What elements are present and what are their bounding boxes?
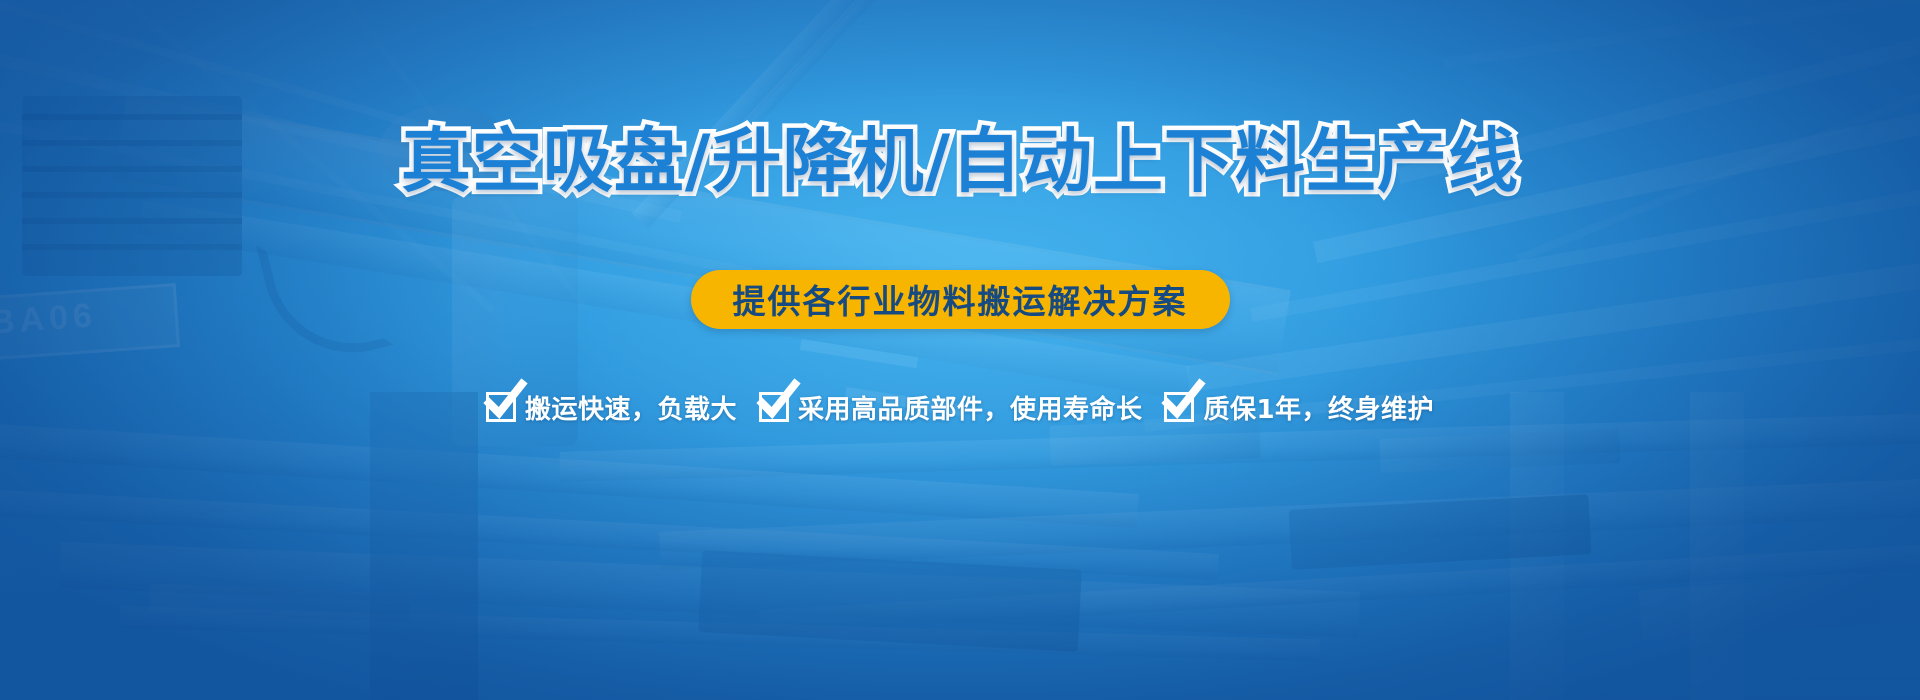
feature-label: 质保1年，终身维护 [1203, 389, 1434, 426]
banner-content: 真空吸盘/升降机/自动上下料生产线 提供各行业物料搬运解决方案 搬运快速，负载大… [0, 0, 1920, 700]
feature-list: 搬运快速，负载大 采用高品质部件，使用寿命长 质保1年，终身维护 [486, 389, 1434, 426]
feature-item: 质保1年，终身维护 [1164, 389, 1434, 426]
banner-subtitle-pill: 提供各行业物料搬运解决方案 [691, 270, 1230, 329]
checkbox-checked-icon [1164, 392, 1194, 422]
feature-label: 搬运快速，负载大 [525, 389, 737, 426]
feature-item: 采用高品质部件，使用寿命长 [759, 389, 1143, 426]
checkbox-checked-icon [486, 392, 516, 422]
feature-item: 搬运快速，负载大 [486, 389, 737, 426]
feature-label: 采用高品质部件，使用寿命长 [798, 389, 1143, 426]
promo-banner: BA06 [0, 0, 1920, 700]
banner-headline: 真空吸盘/升降机/自动上下料生产线 [401, 126, 1519, 196]
checkbox-checked-icon [759, 392, 789, 422]
